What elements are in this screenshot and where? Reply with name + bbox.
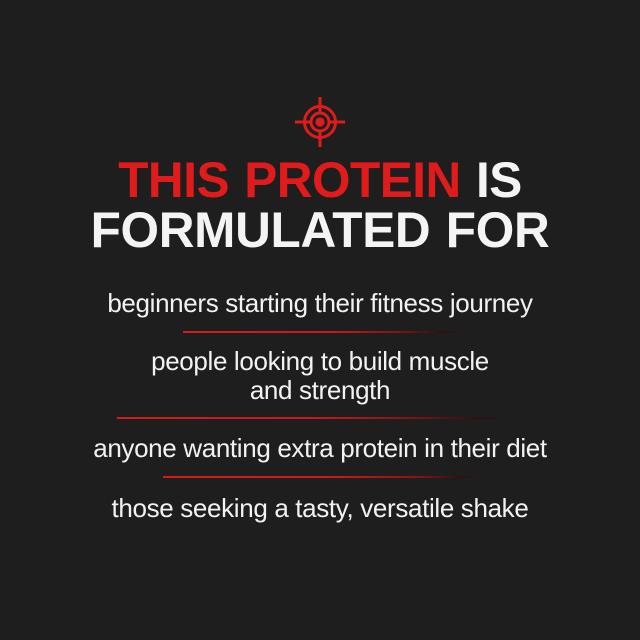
benefits-list: beginners starting their fitness journey… — [0, 289, 640, 524]
divider-3 — [163, 476, 483, 478]
list-item: people looking to build muscle and stren… — [0, 347, 640, 405]
headline: THIS PROTEIN IS FORMULATED FOR — [0, 156, 640, 255]
headline-line-1-white-text: IS — [476, 152, 522, 208]
headline-accent-text: THIS PROTEIN — [118, 152, 461, 208]
divider-1 — [183, 331, 465, 333]
headline-line-1: THIS PROTEIN IS — [3, 156, 637, 206]
divider-2 — [117, 417, 509, 419]
list-item: anyone wanting extra protein in their di… — [0, 434, 640, 463]
poster-canvas: THIS PROTEIN IS FORMULATED FOR beginners… — [0, 0, 640, 640]
headline-line-2: FORMULATED FOR — [3, 206, 637, 256]
crosshair-target-icon — [294, 96, 346, 148]
list-item: beginners starting their fitness journey — [0, 289, 640, 318]
headline-line-1-suffix — [461, 152, 476, 208]
list-item: those seeking a tasty, versatile shake — [0, 494, 640, 523]
